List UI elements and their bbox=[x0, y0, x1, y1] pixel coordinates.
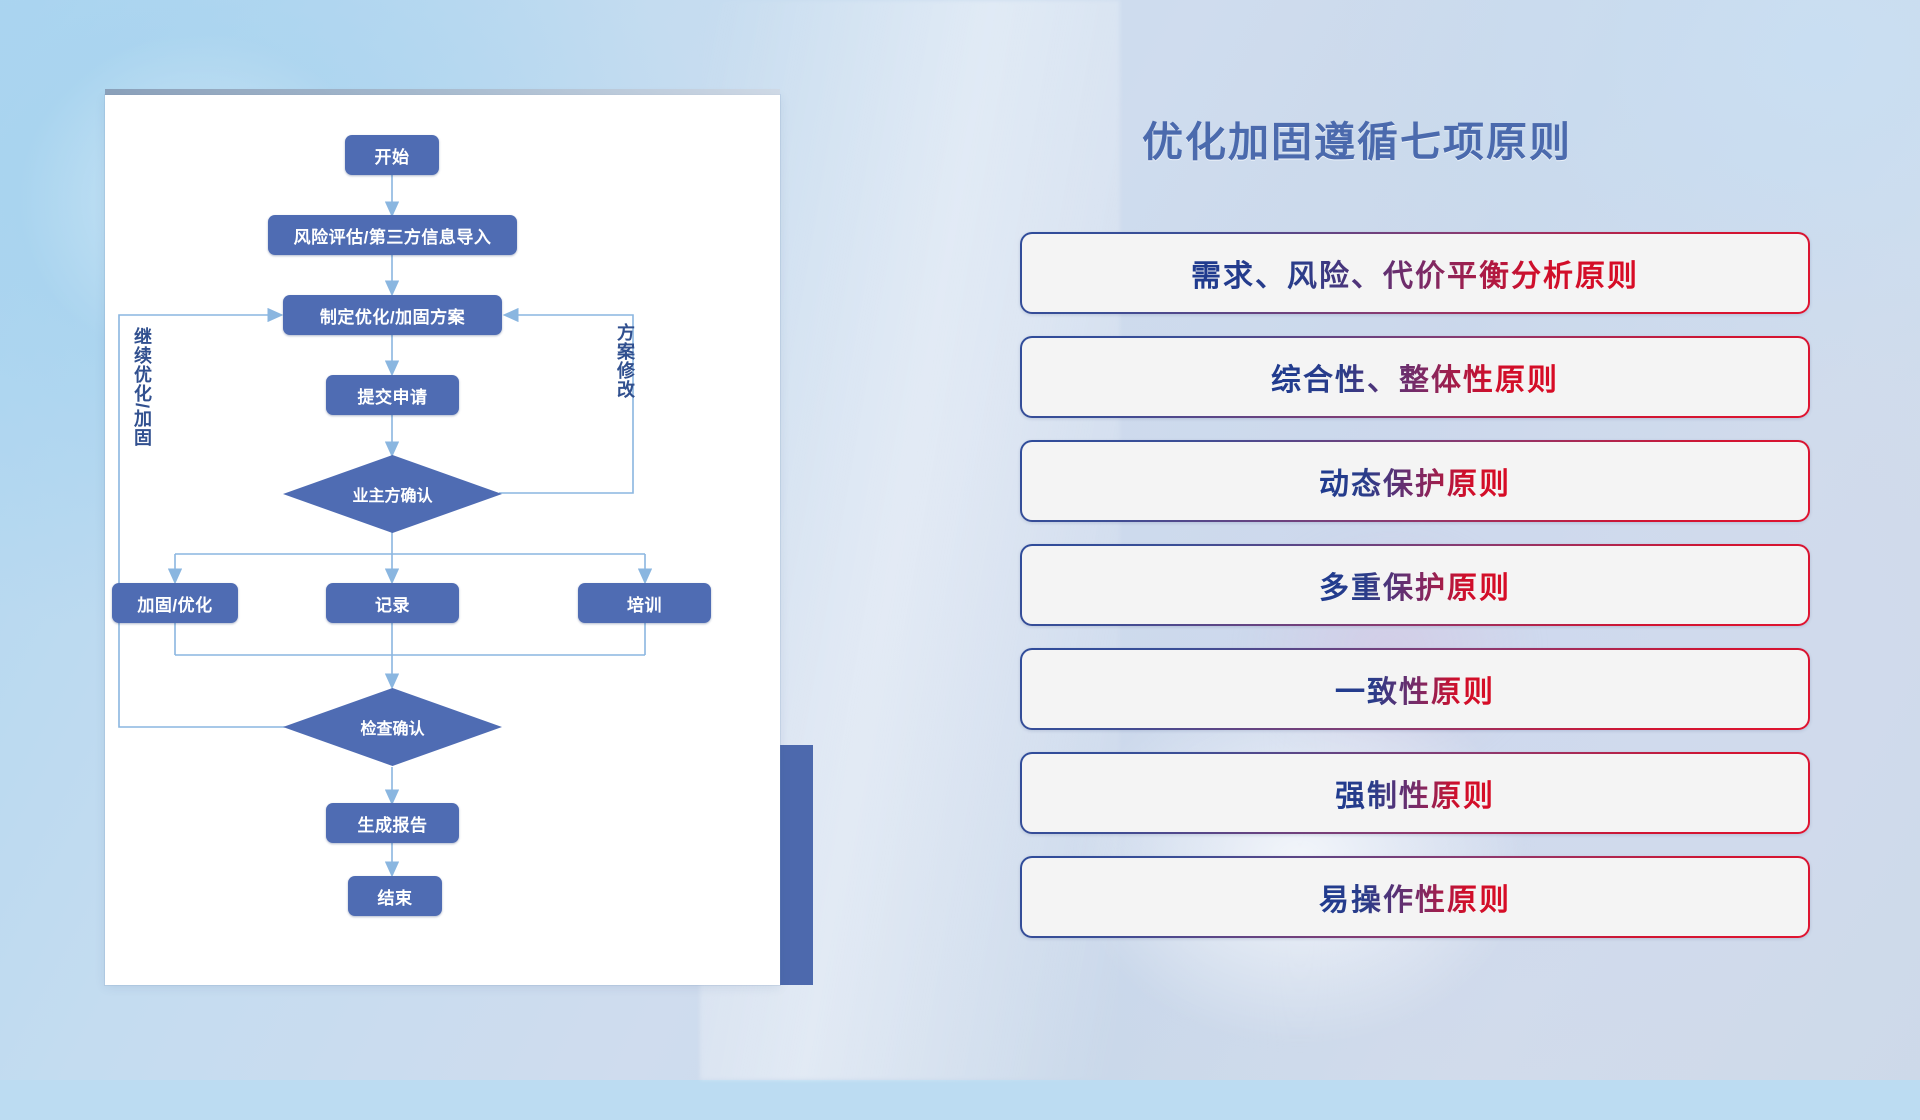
principle-card-label: 强制性原则 bbox=[1335, 771, 1495, 815]
principle-card-label: 易操作性原则 bbox=[1319, 875, 1511, 919]
flow-node-training[interactable]: 培训 bbox=[578, 583, 711, 623]
principle-card-label: 动态保护原则 bbox=[1319, 459, 1511, 503]
principle-card-inner: 强制性原则 bbox=[1022, 754, 1808, 832]
flow-node-reinforce[interactable]: 加固/优化 bbox=[112, 583, 238, 623]
principle-card[interactable]: 动态保护原则 bbox=[1020, 440, 1810, 522]
principle-card-inner: 动态保护原则 bbox=[1022, 442, 1808, 520]
principle-card-inner: 易操作性原则 bbox=[1022, 858, 1808, 936]
principle-card[interactable]: 一致性原则 bbox=[1020, 648, 1810, 730]
principle-card-inner: 一致性原则 bbox=[1022, 650, 1808, 728]
flowchart-canvas: 继续优化/加固 方案修改 开始 风险评估/第三方信息导入 制定优化/加固方案 提… bbox=[105, 95, 780, 985]
flow-node-start[interactable]: 开始 bbox=[345, 135, 439, 175]
principle-card[interactable]: 强制性原则 bbox=[1020, 752, 1810, 834]
principle-card-label: 一致性原则 bbox=[1335, 667, 1495, 711]
flow-node-check-confirm[interactable]: 检查确认 bbox=[283, 688, 502, 766]
principle-card[interactable]: 多重保护原则 bbox=[1020, 544, 1810, 626]
principles-title: 优化加固遵循七项原则 bbox=[1142, 108, 1572, 168]
flow-node-risk-assess[interactable]: 风险评估/第三方信息导入 bbox=[268, 215, 517, 255]
flow-edge-label-left-loop: 继续优化/加固 bbox=[129, 327, 155, 447]
flow-node-end[interactable]: 结束 bbox=[348, 876, 442, 916]
flowchart-panel: 继续优化/加固 方案修改 开始 风险评估/第三方信息导入 制定优化/加固方案 提… bbox=[105, 95, 780, 985]
principles-list: 需求、风险、代价平衡分析原则 综合性、整体性原则 动态保护原则 多重保护原则 一… bbox=[1020, 232, 1810, 960]
principle-card-inner: 综合性、整体性原则 bbox=[1022, 338, 1808, 416]
principle-card-inner: 多重保护原则 bbox=[1022, 546, 1808, 624]
flow-node-record[interactable]: 记录 bbox=[326, 583, 459, 623]
principle-card-inner: 需求、风险、代价平衡分析原则 bbox=[1022, 234, 1808, 312]
flow-node-owner-confirm-label: 业主方确认 bbox=[352, 482, 432, 506]
flow-node-generate-report[interactable]: 生成报告 bbox=[326, 803, 459, 843]
principle-card[interactable]: 易操作性原则 bbox=[1020, 856, 1810, 938]
principle-card-label: 综合性、整体性原则 bbox=[1271, 355, 1559, 399]
principle-card-label: 多重保护原则 bbox=[1319, 563, 1511, 607]
flow-node-make-plan[interactable]: 制定优化/加固方案 bbox=[283, 295, 502, 335]
flow-node-submit-application[interactable]: 提交申请 bbox=[326, 375, 459, 415]
principle-card[interactable]: 综合性、整体性原则 bbox=[1020, 336, 1810, 418]
principle-card[interactable]: 需求、风险、代价平衡分析原则 bbox=[1020, 232, 1810, 314]
flow-node-check-confirm-label: 检查确认 bbox=[360, 715, 424, 739]
flow-edge-label-right-loop: 方案修改 bbox=[612, 323, 638, 399]
principle-card-label: 需求、风险、代价平衡分析原则 bbox=[1191, 251, 1639, 295]
flow-node-owner-confirm[interactable]: 业主方确认 bbox=[283, 455, 502, 533]
principles-section: 优化加固遵循七项原则 需求、风险、代价平衡分析原则 综合性、整体性原则 动态保护… bbox=[1020, 70, 1850, 1030]
